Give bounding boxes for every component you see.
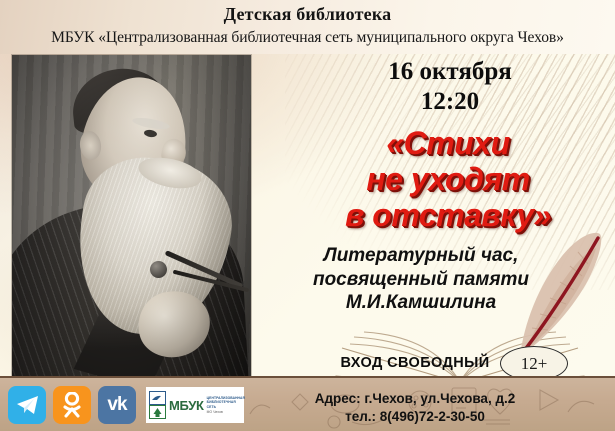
logo-emblem-icon [149, 391, 166, 419]
contact-info: Адрес: г.Чехов, ул.Чехова, д.2 тел.: 8(4… [250, 390, 580, 427]
odnoklassniki-icon[interactable] [53, 386, 91, 424]
logo-name-line-2: БИБЛИОТЕЧНАЯ СЕТЬ [207, 400, 245, 409]
event-date: 16 октября [300, 58, 600, 85]
library-logo: МБУК ЦЕНТРАЛИЗОВАННАЯ БИБЛИОТЕЧНАЯ СЕТЬ … [146, 387, 244, 423]
contact-address: Адрес: г.Чехов, ул.Чехова, д.2 [250, 390, 580, 409]
event-time: 12:20 [300, 88, 600, 116]
odnoklassniki-glyph [62, 392, 82, 418]
portrait-photo [12, 55, 251, 379]
organization-title: Детская библиотека [0, 4, 615, 25]
telegram-icon[interactable] [8, 386, 46, 424]
logo-full-name: ЦЕНТРАЛИЗОВАННАЯ БИБЛИОТЕЧНАЯ СЕТЬ МО Че… [207, 396, 245, 414]
event-title-line-2: не уходят [288, 162, 608, 198]
event-title-line-1: «Стихи [288, 126, 608, 162]
social-links[interactable]: vk [8, 386, 136, 424]
logo-abbreviation: МБУК [169, 398, 204, 413]
contact-phone: тел.: 8(496)72-2-30-50 [250, 408, 580, 427]
vkontakte-icon[interactable]: vk [98, 386, 136, 424]
telegram-plane-glyph [15, 394, 40, 416]
logo-name-line-3: МО Чехов [207, 410, 245, 415]
event-title: «Стихи не уходят в отставку» [288, 126, 608, 233]
poster: Детская библиотека МБУК «Централизованна… [0, 0, 615, 431]
organization-subtitle: МБУК «Централизованная библиотечная сеть… [0, 29, 615, 47]
photo-vignette [12, 55, 251, 379]
vk-glyph-label: vk [107, 394, 126, 416]
